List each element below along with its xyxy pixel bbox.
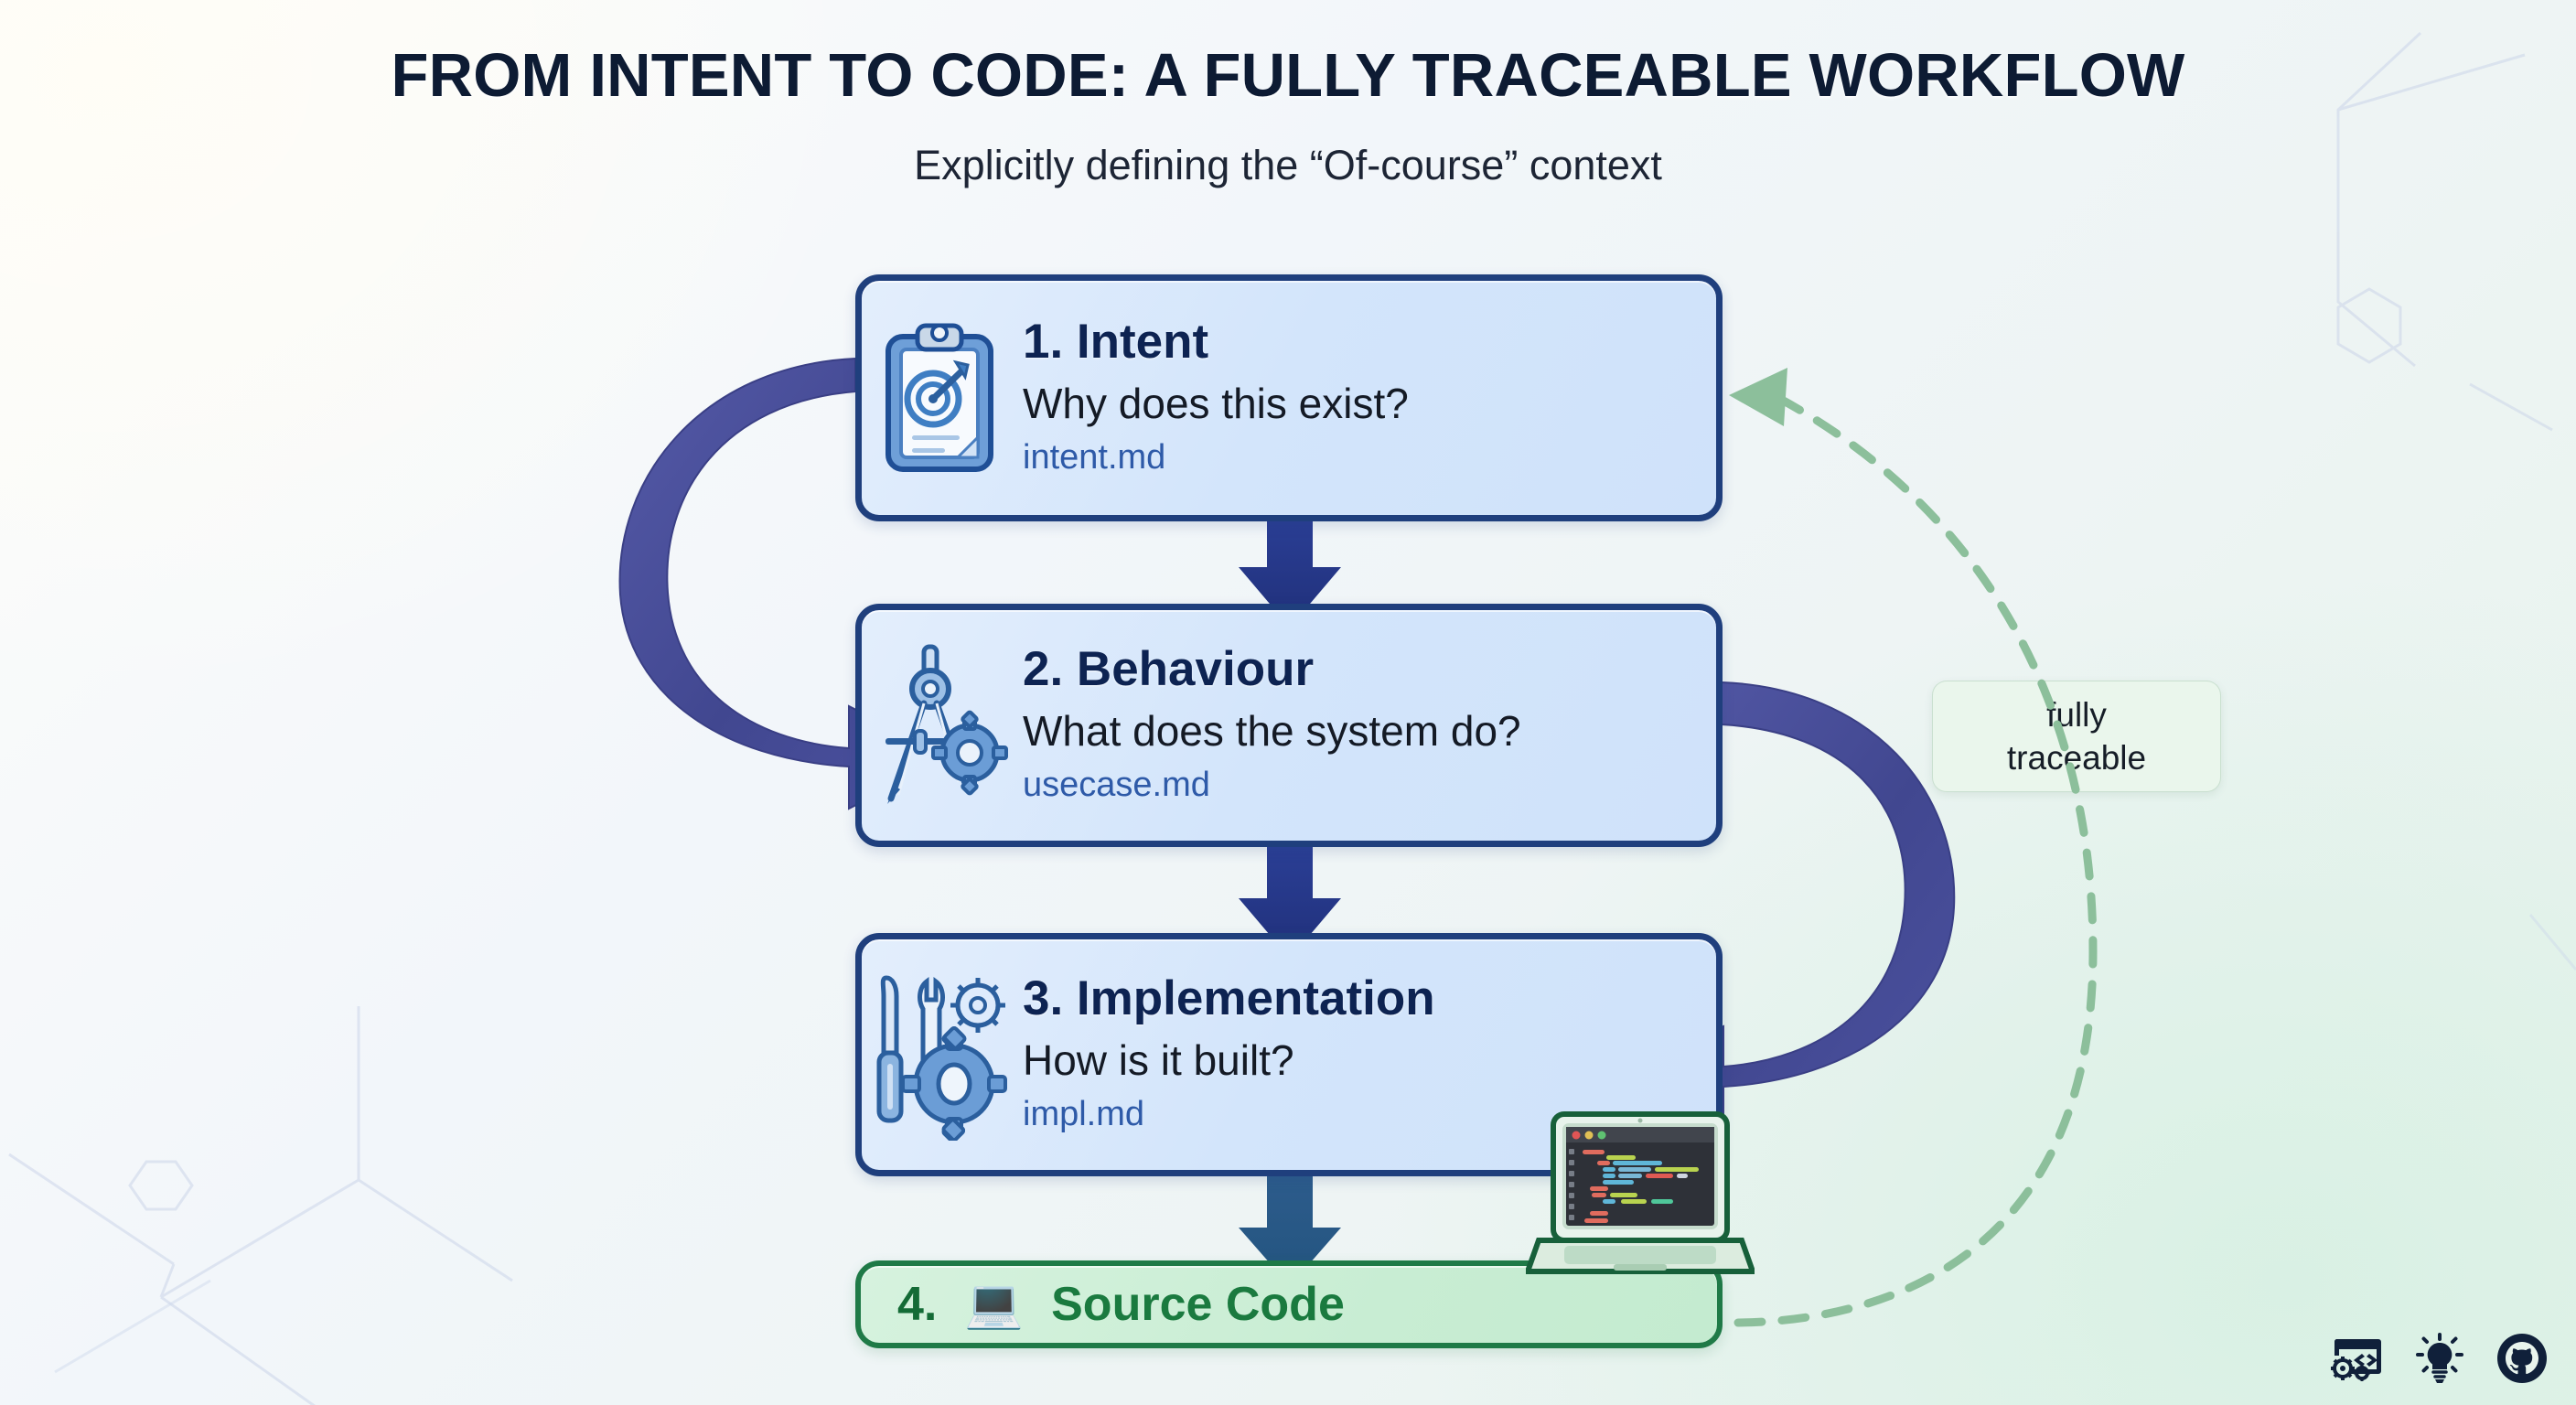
page-title: FROM INTENT TO CODE: A FULLY TRACEABLE W… bbox=[0, 40, 2576, 111]
laptop-icon: 💻 bbox=[964, 1281, 1024, 1328]
flow-node-text: 1. Intent Why does this exist? intent.md bbox=[1017, 316, 1716, 478]
lightbulb-icon[interactable] bbox=[2415, 1332, 2464, 1385]
source-code-label: Source Code bbox=[1051, 1277, 1345, 1332]
node-heading: 3. Implementation bbox=[1023, 973, 1716, 1024]
node-question: What does the system do? bbox=[1023, 705, 1716, 758]
github-icon[interactable] bbox=[2495, 1332, 2549, 1385]
clipboard-target-icon bbox=[862, 281, 1017, 515]
diagram-canvas: FROM INTENT TO CODE: A FULLY TRACEABLE W… bbox=[0, 0, 2576, 1405]
traceable-line-2: traceable bbox=[2007, 736, 2146, 779]
node-heading: 2. Behaviour bbox=[1023, 644, 1716, 695]
traceable-line-1: fully bbox=[2046, 693, 2107, 736]
flow-node-intent[interactable]: 1. Intent Why does this exist? intent.md bbox=[855, 274, 1723, 521]
node-heading: 1. Intent bbox=[1023, 316, 1716, 368]
page-subtitle: Explicitly defining the “Of-course” cont… bbox=[0, 142, 2576, 189]
flow-node-behaviour[interactable]: 2. Behaviour What does the system do? us… bbox=[855, 604, 1723, 847]
brand-icon-row bbox=[2331, 1332, 2549, 1385]
laptop-code-editor-art bbox=[1526, 1110, 1755, 1281]
node-file: usecase.md bbox=[1023, 765, 1716, 807]
arrow-traceability-source-to-intent bbox=[1729, 368, 2093, 1323]
code-window-gears-icon[interactable] bbox=[2331, 1332, 2384, 1385]
source-code-row: 4. 💻 Source Code bbox=[861, 1277, 1345, 1332]
screwdriver-wrench-gear-icon bbox=[862, 939, 1017, 1170]
flow-node-text: 2. Behaviour What does the system do? us… bbox=[1017, 644, 1716, 806]
node-question: Why does this exist? bbox=[1023, 378, 1716, 431]
node-question: How is it built? bbox=[1023, 1035, 1716, 1088]
source-code-number: 4. bbox=[897, 1277, 937, 1332]
compass-gear-icon bbox=[862, 610, 1017, 841]
node-file: intent.md bbox=[1023, 437, 1716, 479]
fully-traceable-badge: fully traceable bbox=[1932, 681, 2221, 792]
